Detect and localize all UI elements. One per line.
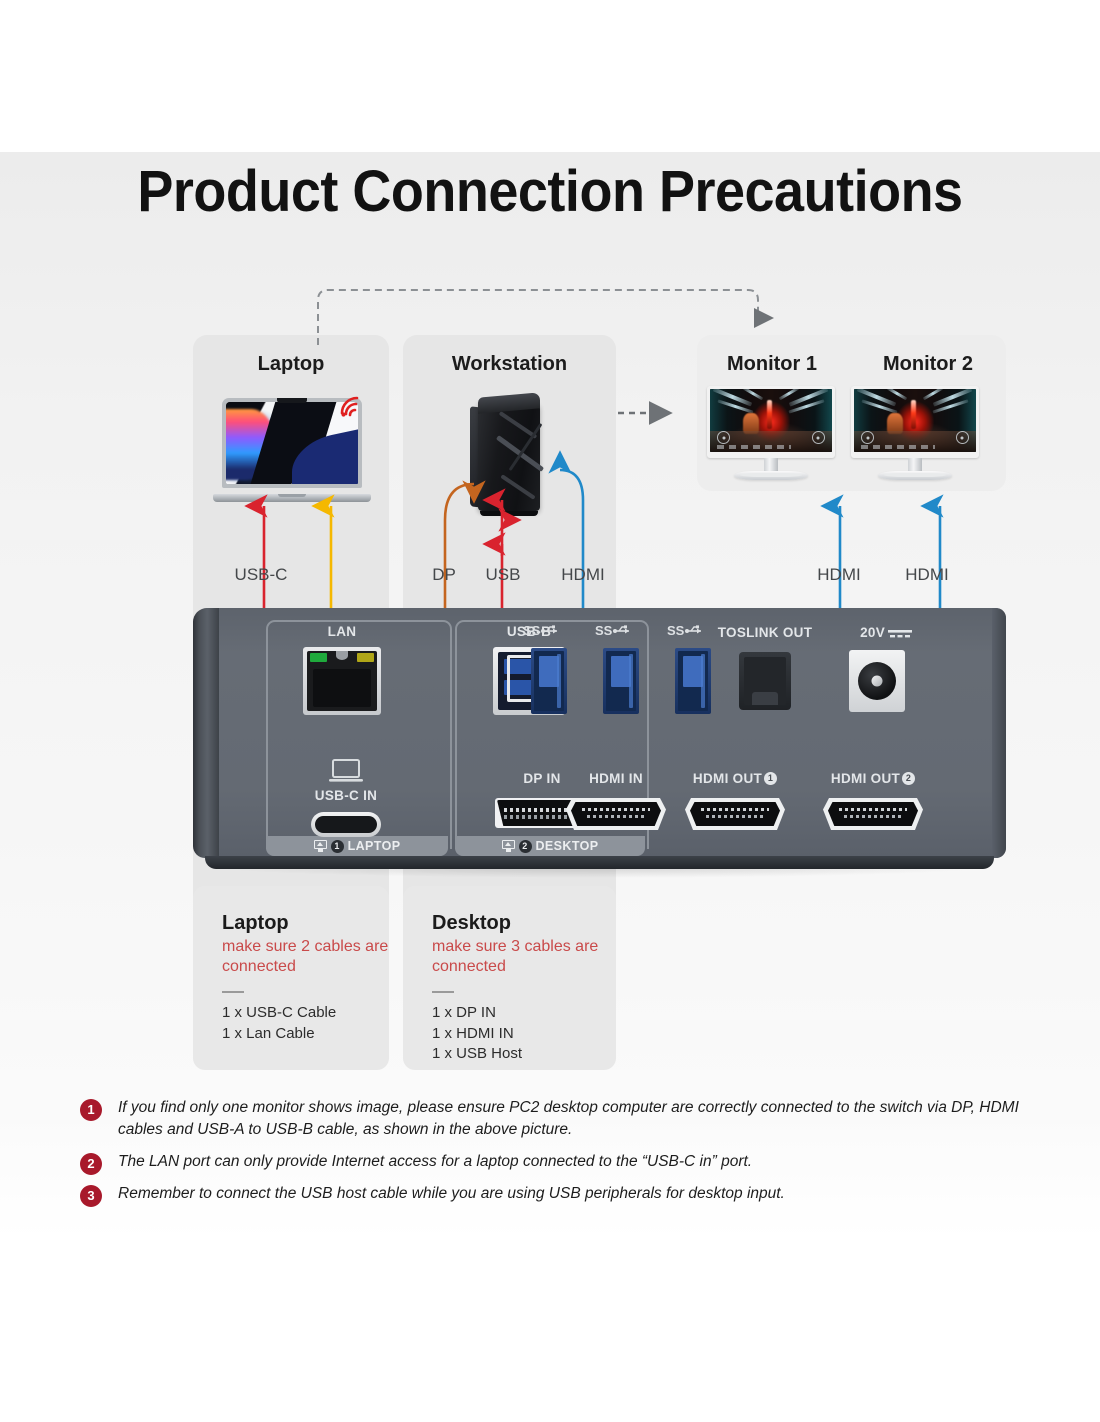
note-item: 1 If you find only one monitor shows ima…: [80, 1097, 1040, 1141]
usb-a-port-2[interactable]: [603, 648, 639, 714]
usb-c-in-label: USB-C IN: [299, 788, 393, 803]
info-item: 1 x Lan Cable: [222, 1024, 389, 1045]
hdmi-in-port[interactable]: [566, 798, 666, 830]
info-warning-desktop: make sure 3 cables are connected: [432, 937, 616, 978]
usb-c-in-port[interactable]: [311, 812, 381, 837]
background-top: [0, 0, 1100, 152]
info-title-desktop: Desktop: [432, 912, 616, 935]
usb-a-port-3[interactable]: [675, 648, 711, 714]
group-badge-1: 1: [331, 840, 344, 853]
cable-label-hdmi-in: HDMI: [546, 565, 620, 585]
monitor-1-illustration: [707, 386, 835, 482]
hdmi-out-1-label: HDMI OUT 1: [655, 771, 815, 786]
info-item: 1 x DP IN: [432, 1003, 616, 1024]
desktop-tower-illustration: [470, 395, 548, 513]
dock-left-edge: [193, 608, 219, 858]
page-title: Product Connection Precautions: [39, 158, 1062, 225]
info-item: 1 x HDMI IN: [432, 1024, 616, 1045]
laptop-camera-notch: [277, 398, 307, 403]
cable-label-hdmi-out-1: HDMI: [802, 565, 876, 585]
notes-list: 1 If you find only one monitor shows ima…: [80, 1097, 1040, 1215]
hdmi-out-1-port[interactable]: [685, 798, 785, 830]
info-divider: [222, 991, 244, 993]
wifi-icon: [338, 392, 368, 418]
group-footer-laptop: 1 LAPTOP: [266, 836, 448, 856]
superspeed-usb-icon: SS: [523, 622, 565, 638]
info-title-laptop: Laptop: [222, 912, 389, 935]
toslink-label: TOSLINK OUT: [705, 625, 825, 640]
lan-label: LAN: [303, 624, 381, 639]
info-item: 1 x USB-C Cable: [222, 1003, 389, 1024]
docking-station: 1 LAPTOP 2 DESKTOP LAN USB-B: [193, 608, 1006, 870]
dock-right-edge: [992, 608, 1006, 858]
info-item: 1 x USB Host: [432, 1044, 616, 1065]
superspeed-usb-icon: SS: [667, 622, 709, 638]
cable-label-usb: USB: [470, 565, 536, 585]
monitor-2-illustration: [851, 386, 979, 482]
lan-led-yellow: [357, 653, 374, 662]
hdmi-out-2-label: HDMI OUT 2: [793, 771, 953, 786]
svg-text:SS: SS: [667, 623, 685, 638]
cable-label-hdmi-out-2: HDMI: [890, 565, 964, 585]
group-footer-desktop: 2 DESKTOP: [455, 836, 645, 856]
info-box-desktop: Desktop make sure 3 cables are connected…: [403, 886, 616, 1070]
laptop-icon: [329, 758, 363, 784]
svg-text:SS: SS: [595, 623, 613, 638]
group-label-laptop: LAPTOP: [348, 839, 401, 853]
hdmi-out-2-port[interactable]: [823, 798, 923, 830]
note-text: If you find only one monitor shows image…: [118, 1097, 1040, 1141]
hdmi-out-2-badge: 2: [902, 772, 915, 785]
dc-power-icon: [887, 627, 913, 641]
display-upload-icon: [314, 840, 327, 852]
lan-led-green: [310, 653, 327, 662]
note-text: Remember to connect the USB host cable w…: [118, 1183, 1040, 1205]
diagram-canvas: Product Connection Precautions Laptop Wo…: [0, 0, 1100, 1422]
hdmi-out-2-text: HDMI OUT: [831, 771, 900, 786]
monitor1-title: Monitor 1: [697, 353, 847, 376]
background-bottom: [0, 1240, 1100, 1422]
group-label-desktop: DESKTOP: [536, 839, 599, 853]
group-badge-2: 2: [519, 840, 532, 853]
hdmi-out-1-text: HDMI OUT: [693, 771, 762, 786]
info-divider: [432, 991, 454, 993]
power-voltage-label: 20V: [833, 625, 885, 640]
toslink-port[interactable]: [739, 652, 791, 710]
monitor2-title: Monitor 2: [853, 353, 1003, 376]
svg-text:SS: SS: [523, 623, 541, 638]
display-upload-icon: [502, 840, 515, 852]
info-warning-laptop: make sure 2 cables are connected: [222, 937, 389, 978]
dc-power-jack[interactable]: [849, 650, 905, 712]
hdmi-out-1-badge: 1: [764, 772, 777, 785]
cable-label-usbc: USB-C: [206, 565, 316, 585]
note-badge: 2: [80, 1153, 102, 1175]
superspeed-usb-icon: SS: [595, 622, 637, 638]
note-item: 3 Remember to connect the USB host cable…: [80, 1183, 1040, 1205]
usb-a-port-1[interactable]: [531, 648, 567, 714]
dock-bottom-edge: [205, 856, 994, 869]
cable-label-dp: DP: [415, 565, 473, 585]
note-item: 2 The LAN port can only provide Internet…: [80, 1151, 1040, 1173]
note-badge: 3: [80, 1185, 102, 1207]
note-badge: 1: [80, 1099, 102, 1121]
lan-port[interactable]: [303, 647, 381, 715]
info-box-laptop: Laptop make sure 2 cables are connected …: [193, 886, 389, 1070]
laptop-title: Laptop: [193, 353, 389, 376]
note-text: The LAN port can only provide Internet a…: [118, 1151, 1040, 1173]
workstation-title: Workstation: [403, 353, 616, 376]
